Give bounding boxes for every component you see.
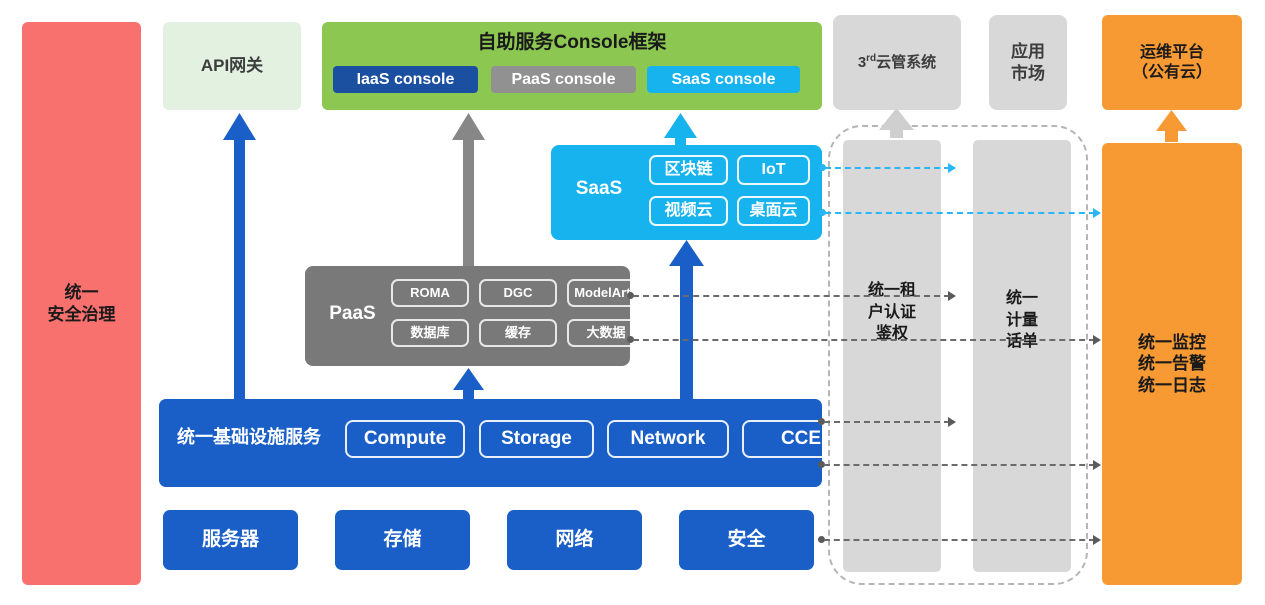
api-gateway-box[interactable]: API网关 (163, 22, 301, 110)
security-governance-panel[interactable]: 统一 安全治理 (22, 22, 141, 585)
connector-infra-to-ops (824, 464, 1095, 466)
arrow-saas-to-console (664, 113, 697, 146)
paas-label: PaaS (315, 302, 390, 326)
paas-item-bigdata[interactable]: 大数据 (567, 319, 645, 347)
hardware-item-storage[interactable]: 存储 (335, 510, 470, 570)
ops-platform-top-box[interactable]: 运维平台 （公有云） (1102, 15, 1242, 110)
connector-paas-to-ops (633, 339, 1095, 341)
console-framework-box[interactable]: 自助服务Console框架 IaaS console PaaS console … (322, 22, 822, 110)
infra-item-network[interactable]: Network (607, 420, 729, 458)
console-framework-title: 自助服务Console框架 (322, 31, 822, 55)
architecture-diagram: 统一 安全治理 API网关 自助服务Console框架 IaaS console… (0, 0, 1265, 605)
saas-block[interactable]: SaaS 区块链 IoT 视频云 桌面云 (551, 145, 822, 240)
connector-hardware-to-ops (824, 539, 1095, 541)
ops-platform-body-box[interactable]: 统一监控 统一告警 统一日志 (1102, 143, 1242, 585)
connector-saas-to-ops (825, 212, 1095, 214)
app-market-box[interactable]: 应用 市场 (989, 15, 1067, 110)
unified-auth-column[interactable]: 统一租 户认证 鉴权 (843, 140, 941, 572)
connector-arrowhead-infra-ops (1093, 460, 1101, 470)
ops-body-line2: 统一告警 (1138, 353, 1206, 374)
paas-item-cache[interactable]: 缓存 (479, 319, 557, 347)
connector-arrowhead-infra-auth (948, 417, 956, 427)
third-party-prefix: 3 (858, 54, 866, 71)
infrastructure-block[interactable]: 统一基础设施服务 Compute Storage Network CCE (159, 399, 822, 487)
paas-block[interactable]: PaaS ROMA DGC ModelArts 数据库 缓存 大数据 (305, 266, 630, 366)
connector-arrowhead-paas-ops (1093, 335, 1101, 345)
hardware-item-server[interactable]: 服务器 (163, 510, 298, 570)
saas-console-chip[interactable]: SaaS console (647, 66, 800, 93)
auth-line3: 鉴权 (843, 323, 941, 345)
ops-top-line2: （公有云） (1132, 63, 1212, 83)
paas-item-database[interactable]: 数据库 (391, 319, 469, 347)
ops-body-line3: 统一日志 (1138, 375, 1206, 396)
ops-top-line1: 运维平台 (1132, 43, 1212, 63)
infrastructure-label: 统一基础设施服务 (177, 426, 321, 449)
ops-body-line1: 统一监控 (1138, 332, 1206, 353)
arrow-paas-to-console (452, 113, 485, 266)
connector-paas-to-auth (633, 295, 950, 297)
auth-line1: 统一租 (843, 280, 941, 302)
security-line2: 安全治理 (48, 304, 116, 325)
connector-arrowhead-paas-auth (948, 291, 956, 301)
billing-line3: 话单 (973, 331, 1071, 353)
connector-infra-to-auth (824, 421, 950, 423)
api-gateway-label: API网关 (201, 55, 263, 76)
app-market-line2: 市场 (1011, 63, 1045, 84)
unified-billing-column[interactable]: 统一 计量 话单 (973, 140, 1071, 572)
iaas-console-chip[interactable]: IaaS console (333, 66, 478, 93)
hardware-item-network[interactable]: 网络 (507, 510, 642, 570)
connector-arrowhead-hardware-ops (1093, 535, 1101, 545)
connector-arrowhead-saas-auth (948, 163, 956, 173)
security-line1: 统一 (48, 282, 116, 303)
saas-item-desktop-cloud[interactable]: 桌面云 (737, 196, 810, 226)
saas-item-video-cloud[interactable]: 视频云 (649, 196, 728, 226)
arrow-opsbody-to-opstop (1156, 110, 1187, 142)
infra-item-storage[interactable]: Storage (479, 420, 594, 458)
arrow-infra-to-paas (453, 368, 484, 399)
third-party-cloud-box[interactable]: 3rd云管系统 (833, 15, 961, 110)
auth-line2: 户认证 (843, 302, 941, 324)
billing-line1: 统一 (973, 288, 1071, 310)
saas-label: SaaS (564, 177, 634, 201)
arrow-infra-to-apigw (223, 113, 256, 399)
connector-saas-to-auth (825, 167, 950, 169)
paas-item-roma[interactable]: ROMA (391, 279, 469, 307)
infra-item-compute[interactable]: Compute (345, 420, 465, 458)
saas-item-blockchain[interactable]: 区块链 (649, 155, 728, 185)
third-party-sup: rd (866, 53, 876, 64)
third-party-suffix: 云管系统 (876, 54, 936, 71)
hardware-item-security[interactable]: 安全 (679, 510, 814, 570)
saas-item-iot[interactable]: IoT (737, 155, 810, 185)
app-market-line1: 应用 (1011, 41, 1045, 62)
paas-item-dgc[interactable]: DGC (479, 279, 557, 307)
connector-arrowhead-saas-ops (1093, 208, 1101, 218)
arrow-infra-to-saas (669, 240, 704, 399)
billing-line2: 计量 (973, 310, 1071, 332)
paas-console-chip[interactable]: PaaS console (491, 66, 636, 93)
